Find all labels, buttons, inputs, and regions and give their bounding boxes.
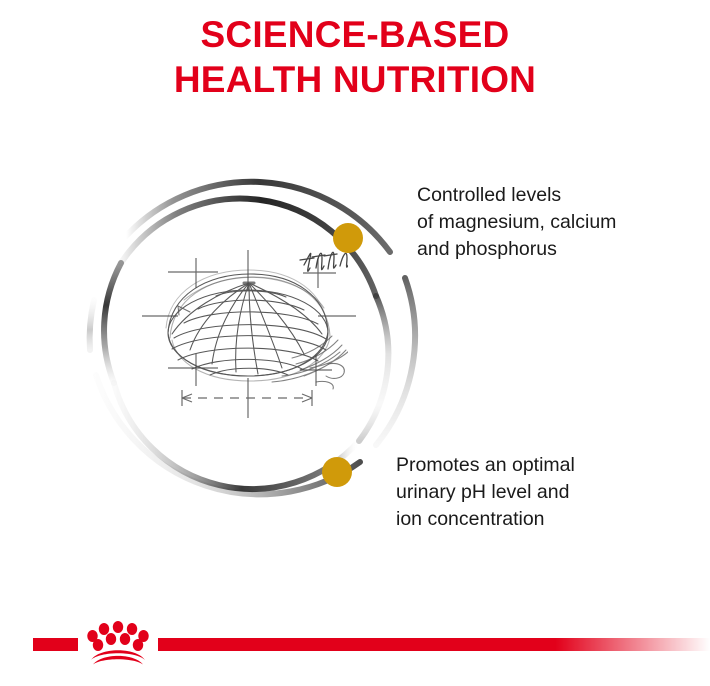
handwritten-annotation xyxy=(300,252,384,271)
brand-footer xyxy=(0,610,710,686)
crown-logo-svg xyxy=(82,618,154,666)
kibble-meridian-5 xyxy=(249,283,258,374)
kibble-parallel-4 xyxy=(174,325,326,339)
callout-1-line-1: Controlled levels xyxy=(417,182,616,209)
callout-2-line-1: Promotes an optimal xyxy=(396,452,575,479)
science-based-health-nutrition-panel: SCIENCE-BASED HEALTH NUTRITION xyxy=(0,0,710,686)
dimension-arrow-right xyxy=(302,394,312,402)
marker-lower-dot[interactable] xyxy=(322,457,352,487)
kibble-meridian-4 xyxy=(236,283,249,372)
callout-1-line-2: of magnesium, calcium xyxy=(417,209,616,236)
footer-bar-right xyxy=(158,638,710,651)
royal-canin-crown-logo xyxy=(82,618,154,666)
footer-bar-left xyxy=(33,638,78,651)
kibble-diagram xyxy=(60,150,440,540)
kibble-outline-top-echo-2 xyxy=(166,270,327,328)
callout-urinary-ph: Promotes an optimal urinary pH level and… xyxy=(396,452,575,533)
page-title-line-1: SCIENCE-BASED xyxy=(0,12,710,57)
callout-1-line-3: and phosphorus xyxy=(417,236,616,263)
kibble-parallel-2 xyxy=(198,300,304,310)
inner-ring-arc-left xyxy=(104,263,121,383)
kibble-diagram-svg xyxy=(60,150,440,540)
callout-2-line-2: urinary pH level and xyxy=(396,479,575,506)
page-title: SCIENCE-BASED HEALTH NUTRITION xyxy=(0,12,710,102)
callout-2-line-3: ion concentration xyxy=(396,506,575,533)
kibble-flick-strokes xyxy=(316,363,344,389)
technical-registration-marks xyxy=(142,250,356,418)
marker-upper-dot[interactable] xyxy=(333,223,363,253)
callout-controlled-levels: Controlled levels of magnesium, calcium … xyxy=(417,182,616,263)
inner-ring-arc-right xyxy=(359,296,388,441)
outer-ring-arc-left xyxy=(90,300,94,350)
outer-ring-arc-bottom xyxy=(96,375,360,494)
page-title-line-2: HEALTH NUTRITION xyxy=(0,57,710,102)
